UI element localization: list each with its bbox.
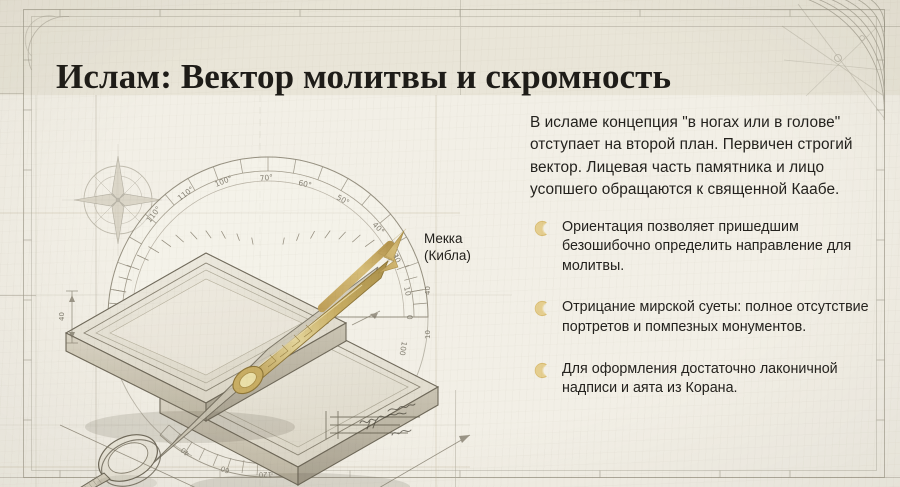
blueprint-illustration: 110° 110° 100° 70° 60° 50° 40° 30 10 0 1… [0,95,512,487]
mecca-label-line1: Мекка [424,231,463,246]
mecca-label: Мекка (Кибла) [424,230,512,264]
list-item: Ориентация позволяет пришедшим безошибоч… [530,218,880,277]
list-item: Отрицание мирской суеты: полное отсутств… [530,298,880,337]
intro-paragraph: В исламе концепция "в ногах или в голове… [530,112,880,202]
svg-text:10: 10 [424,330,432,339]
bullet-list: Ориентация позволяет пришедшим безошибоч… [530,218,880,399]
svg-text:60: 60 [220,464,231,475]
page-title: Ислам: Вектор молитвы и скромность [56,56,671,98]
svg-text:40: 40 [179,446,191,458]
svg-text:0: 0 [405,315,414,320]
illustration-panel: 110° 110° 100° 70° 60° 50° 40° 30 10 0 1… [0,95,512,487]
list-item-text: Отрицание мирской суеты: полное отсутств… [562,298,880,337]
slide-header: Ислам: Вектор молитвы и скромность [0,0,900,95]
crescent-moon-icon [533,299,552,318]
content-panel: В исламе концепция "в ногах или в голове… [530,112,880,399]
list-item-text: Ориентация позволяет пришедшим безошибоч… [562,218,880,277]
mecca-label-line2: (Кибла) [424,247,512,264]
slide-root: Ислам: Вектор молитвы и скромность [0,0,900,487]
list-item: Для оформления достаточно лаконичной над… [530,360,880,399]
svg-text:100: 100 [398,341,409,357]
crescent-moon-icon [533,219,552,238]
svg-text:40: 40 [58,312,66,321]
crescent-moon-icon [533,361,552,380]
list-item-text: Для оформления достаточно лаконичной над… [562,360,880,399]
svg-text:70°: 70° [259,173,273,183]
svg-text:40: 40 [424,286,432,295]
